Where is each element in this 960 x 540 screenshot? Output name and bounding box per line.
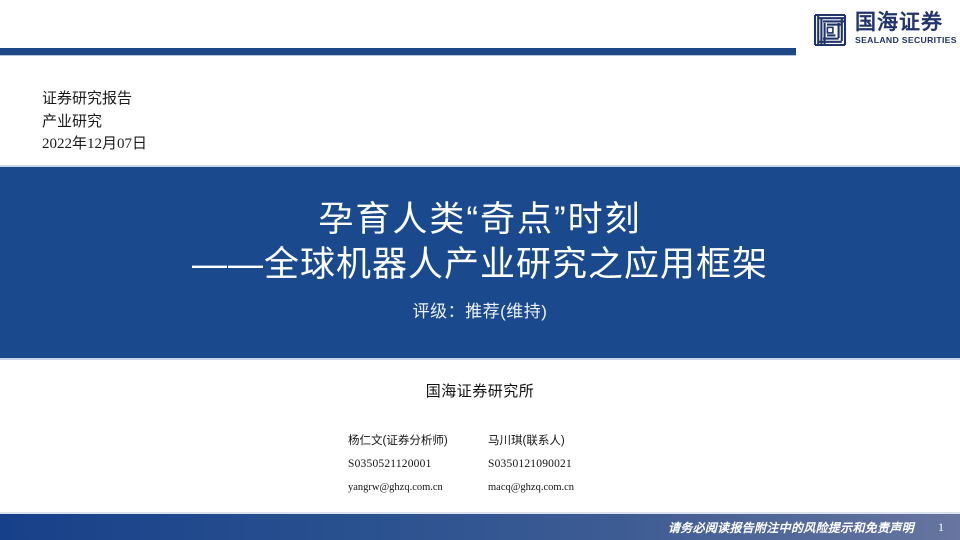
slide-cover: 国海证券 SEALAND SECURITIES 证券研究报告 产业研究 2022… <box>0 0 960 540</box>
analyst-name-primary: 杨仁文(证券分析师) <box>348 430 480 453</box>
footer-disclaimer: 请务必阅读报告附注中的风险提示和免责声明 <box>668 514 914 540</box>
report-meta: 证券研究报告 产业研究 2022年12月07日 <box>42 88 147 156</box>
page-subtitle: ——全球机器人产业研究之应用框架 <box>192 242 768 288</box>
brand-wordmark: 国海证券 SEALAND SECURITIES <box>855 11 955 46</box>
analyst-email-contact[interactable]: macq@ghzq.com.cn <box>488 476 648 499</box>
header-rule-shadow <box>0 55 796 56</box>
analyst-code-contact: S0350121090021 <box>488 453 648 476</box>
analyst-code-primary: S0350521120001 <box>348 453 480 476</box>
title-band-bottom-edge <box>0 358 960 360</box>
analyst-email-primary[interactable]: yangrw@ghzq.com.cn <box>348 476 480 499</box>
sealand-maze-logo-icon <box>812 12 848 48</box>
report-type-label: 证券研究报告 <box>42 88 147 111</box>
report-date-label: 2022年12月07日 <box>42 133 147 156</box>
brand-logo: 国海证券 SEALAND SECURITIES <box>812 11 952 57</box>
brand-name-cn: 国海证券 <box>855 11 955 34</box>
institute-name: 国海证券研究所 <box>0 382 960 402</box>
rating-label: 评级：推荐(维持) <box>413 301 548 323</box>
brand-name-en: SEALAND SECURITIES <box>855 35 957 46</box>
analyst-info: 杨仁文(证券分析师) 马川琪(联系人) S0350521120001 S0350… <box>348 430 648 499</box>
footer-page-number: 1 <box>938 514 944 540</box>
report-sector-label: 产业研究 <box>42 111 147 134</box>
analyst-name-contact: 马川琪(联系人) <box>488 430 648 453</box>
header-rule <box>0 48 796 55</box>
title-group: 孕育人类“奇点”时刻 ——全球机器人产业研究之应用框架 评级：推荐(维持) <box>0 167 960 358</box>
page-title: 孕育人类“奇点”时刻 <box>318 198 641 242</box>
